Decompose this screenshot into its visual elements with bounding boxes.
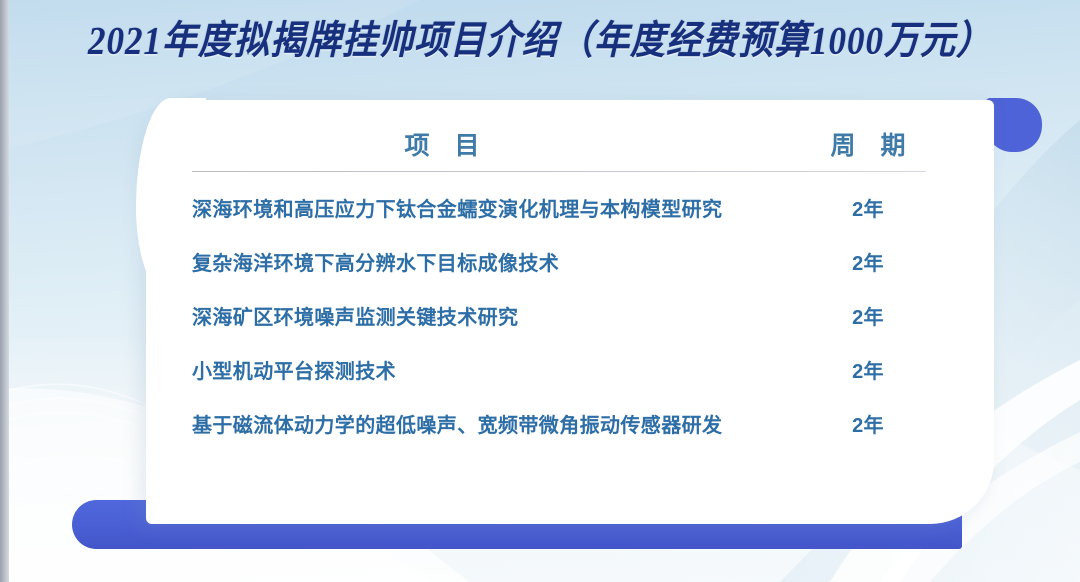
- table-row[interactable]: 复杂海洋环境下高分辨水下目标成像技术 2年: [192, 234, 932, 288]
- table-row[interactable]: 深海矿区环境噪声监测关键技术研究 2年: [192, 288, 932, 342]
- projects-table: 项 目 周 期 深海环境和高压应力下钛合金蠕变演化机理与本构模型研究 2年 复杂…: [192, 126, 932, 450]
- page-title-container: 2021年度拟揭牌挂帅项目介绍（年度经费预算1000万元）: [0, 12, 1080, 63]
- cell-project-name: 基于磁流体动力学的超低噪声、宽频带微角振动传感器研发: [192, 409, 804, 438]
- cell-project-name: 深海矿区环境噪声监测关键技术研究: [192, 301, 804, 330]
- cell-period: 2年: [804, 247, 932, 276]
- cell-project-name: 小型机动平台探测技术: [192, 355, 804, 384]
- column-header-period: 周 期: [804, 126, 932, 162]
- table-row[interactable]: 基于磁流体动力学的超低噪声、宽频带微角振动传感器研发 2年: [192, 396, 932, 450]
- page-title: 2021年度拟揭牌挂帅项目介绍（年度经费预算1000万元）: [88, 9, 992, 66]
- cell-period: 2年: [804, 193, 932, 222]
- cell-period: 2年: [804, 355, 932, 384]
- cell-period: 2年: [804, 301, 932, 330]
- cell-project-name: 复杂海洋环境下高分辨水下目标成像技术: [192, 247, 804, 276]
- cell-period: 2年: [804, 409, 932, 438]
- left-gray-rail: [0, 0, 9, 582]
- table-header-row: 项 目 周 期: [192, 126, 932, 171]
- cell-project-name: 深海环境和高压应力下钛合金蠕变演化机理与本构模型研究: [192, 193, 804, 222]
- blue-teardrop-icon: [986, 98, 1042, 152]
- table-row[interactable]: 小型机动平台探测技术 2年: [192, 342, 932, 396]
- slide-canvas: 2021年度拟揭牌挂帅项目介绍（年度经费预算1000万元） 项 目 周 期 深海…: [0, 0, 1080, 582]
- column-header-item: 项 目: [192, 126, 804, 162]
- table-body: 深海环境和高压应力下钛合金蠕变演化机理与本构模型研究 2年 复杂海洋环境下高分辨…: [192, 172, 932, 450]
- table-row[interactable]: 深海环境和高压应力下钛合金蠕变演化机理与本构模型研究 2年: [192, 180, 932, 234]
